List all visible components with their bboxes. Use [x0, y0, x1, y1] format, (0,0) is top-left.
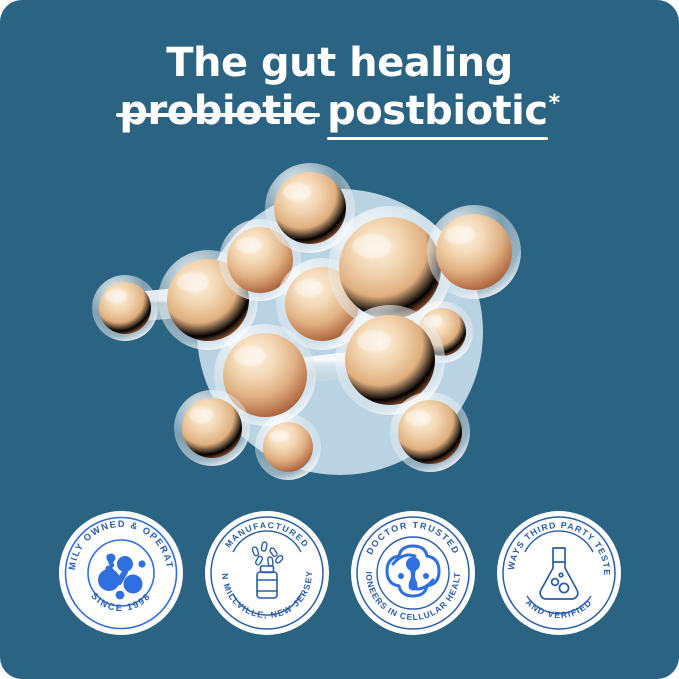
atom — [174, 390, 250, 466]
struck-word-probiotic: probiotic — [119, 88, 317, 134]
molecule-illustration — [60, 160, 620, 500]
atom — [427, 205, 521, 299]
trust-badge-row: FAMILY OWNED & OPERATED SINCE 1998 — [0, 506, 679, 652]
badge-doctor-trusted: DOCTOR TRUSTED PIONEERS IN CELLULAR HEAL… — [349, 506, 477, 640]
product-feature-card: The gut healing probioticpostbiotic* — [0, 0, 679, 679]
atom — [255, 414, 321, 480]
badge-manufactured-nj: MANUFACTURED IN MILLVILLE, NEW JERSEY — [203, 506, 331, 640]
molecule-graphic — [60, 160, 620, 500]
page-title: The gut healing probioticpostbiotic* — [0, 40, 679, 135]
badge-family-owned: FAMILY OWNED & OPERATED SINCE 1998 — [57, 506, 185, 640]
badge-third-party-tested: ALWAYS THIRD PARTY TESTED AND VERIFIED — [495, 506, 623, 640]
headline-line-1: The gut healing — [0, 40, 679, 86]
atom — [390, 392, 470, 472]
molecule-atoms — [92, 163, 521, 480]
headline-line-2: probioticpostbiotic* — [0, 88, 679, 134]
emphasized-word-postbiotic: postbiotic — [327, 88, 547, 134]
atom — [92, 275, 158, 341]
